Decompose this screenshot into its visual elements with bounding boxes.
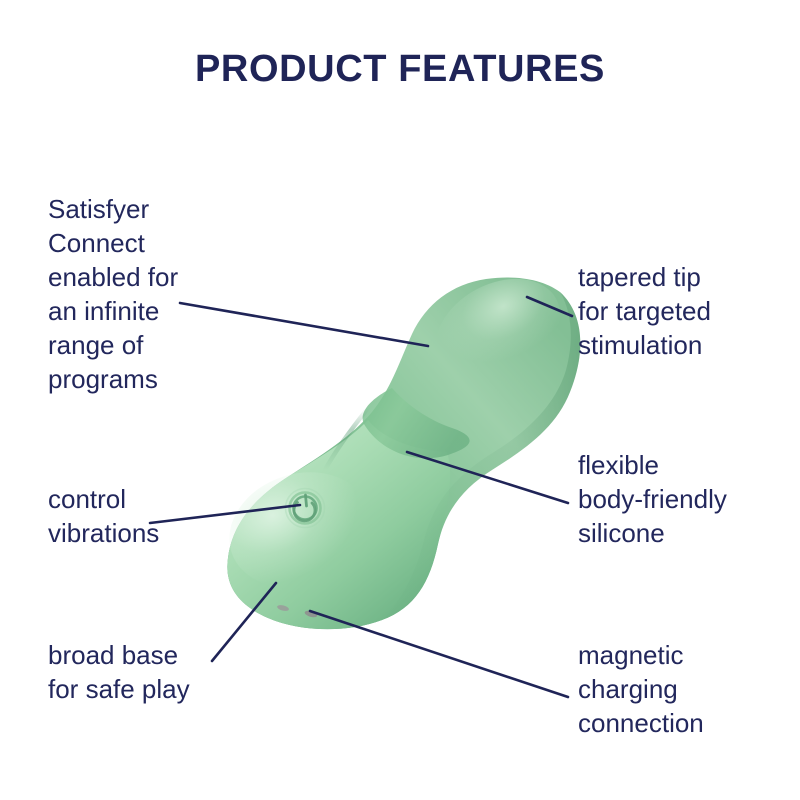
callout-label-charging: magnetic charging connection: [578, 638, 793, 740]
product-edge-shading: [382, 292, 580, 620]
leader-line-tip: [527, 297, 572, 316]
charging-contact-2: [304, 610, 318, 619]
callout-label-tapered-tip: tapered tip for targeted stimulation: [578, 260, 793, 362]
product-waist: [363, 388, 470, 458]
page-title: PRODUCT FEATURES: [0, 48, 800, 91]
product-body: [214, 258, 580, 629]
infographic-page: PRODUCT FEATURES: [0, 0, 800, 800]
power-button-icon[interactable]: [286, 489, 325, 528]
product-lower-lobe: [227, 420, 450, 629]
product-silhouette: [227, 278, 580, 630]
product-crease: [325, 408, 368, 470]
leader-line-charging: [310, 611, 568, 697]
charging-contact-1: [277, 604, 290, 612]
callout-label-silicone: flexible body-friendly silicone: [578, 448, 793, 550]
product-upper-gloss: [418, 258, 578, 401]
leader-line-silicone: [407, 452, 568, 503]
magnetic-charging-contacts: [277, 604, 318, 618]
callout-label-broad-base: broad base for safe play: [48, 638, 278, 706]
callout-label-control: control vibrations: [48, 482, 258, 550]
callout-label-connect: Satisfyer Connect enabled for an infinit…: [48, 192, 258, 396]
